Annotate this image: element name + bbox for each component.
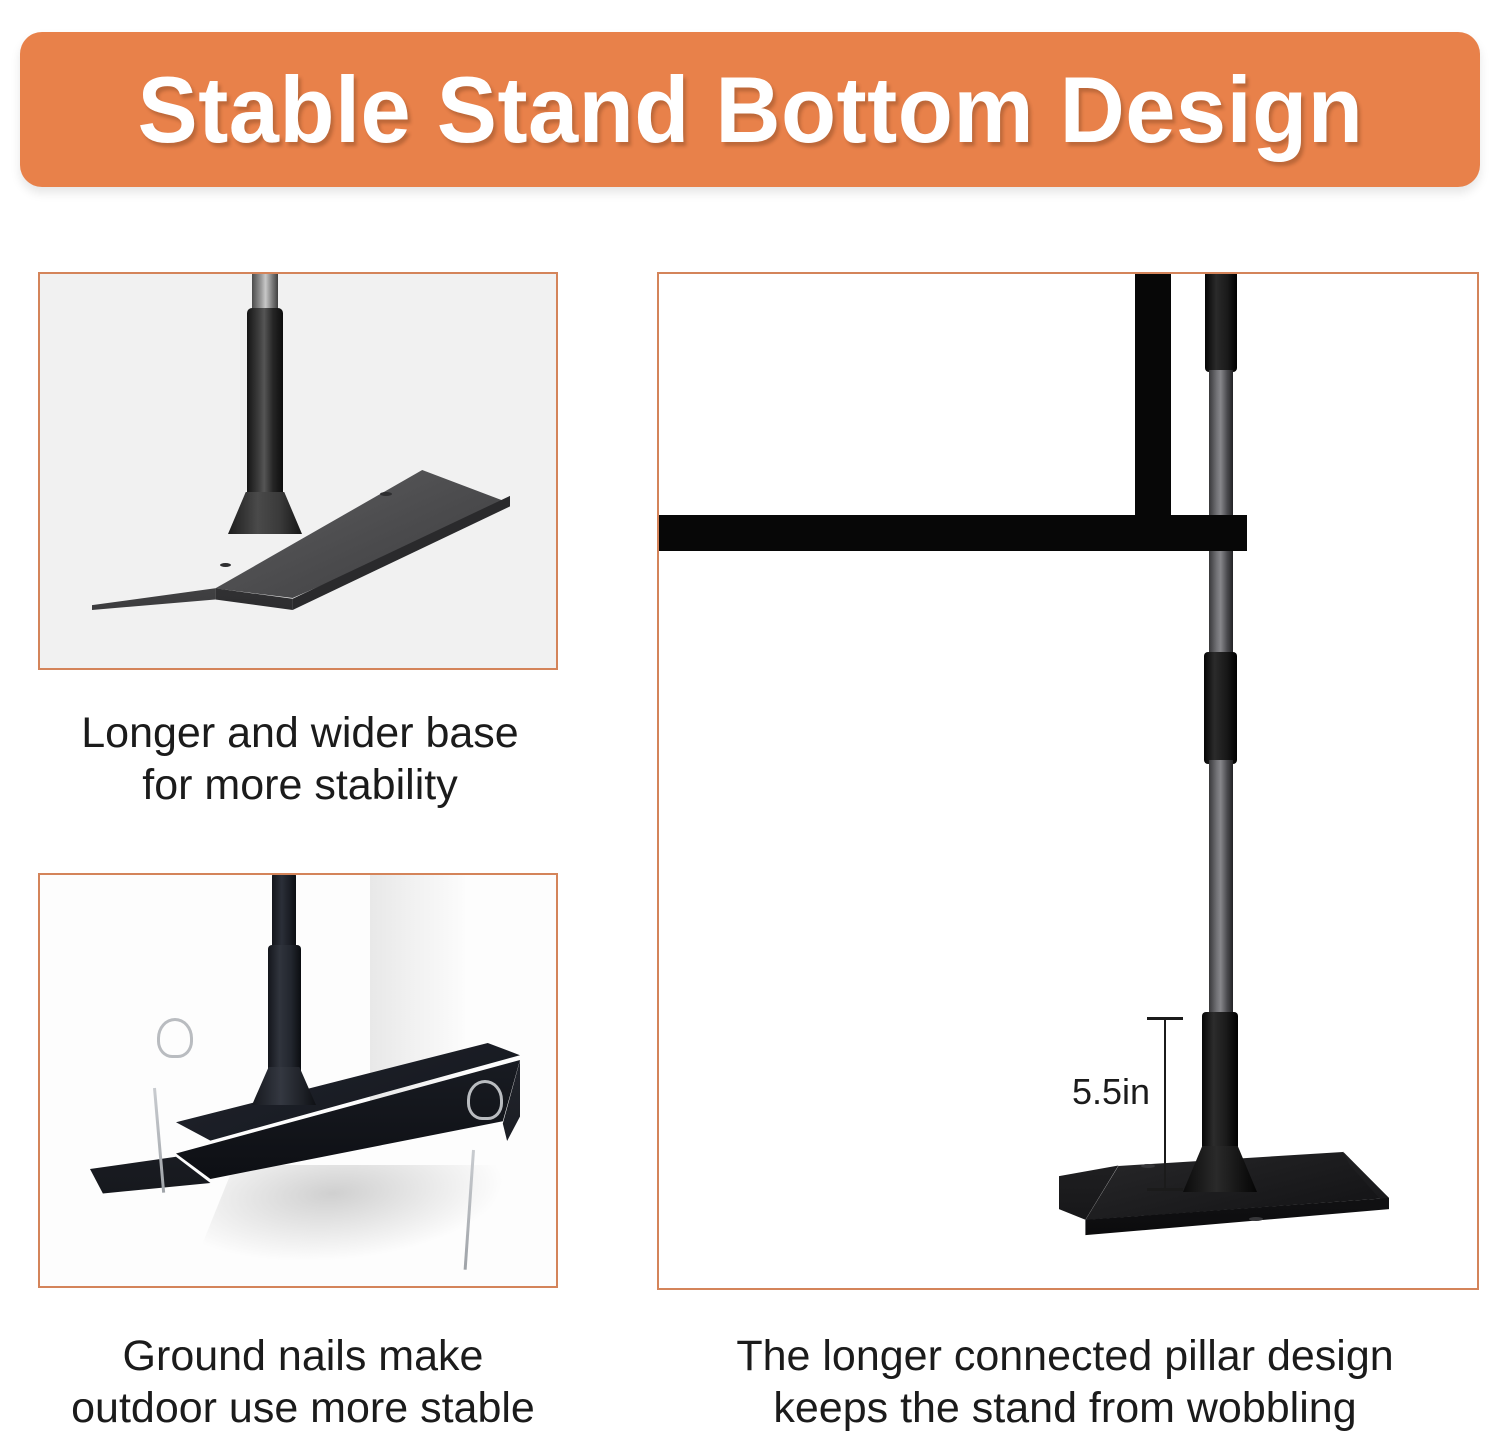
panel-ground-nails	[38, 873, 558, 1288]
caption-pillar-design: The longer connected pillar design keeps…	[645, 1330, 1485, 1435]
pole-upper-segment-icon	[272, 873, 296, 949]
base-plate-screw-icon	[1249, 1217, 1263, 1221]
pole-bottom-sleeve-icon	[1202, 1012, 1238, 1162]
dimension-label-height: 5.5in	[1072, 1071, 1150, 1113]
pole-top-sleeve-icon	[1205, 272, 1237, 372]
pole-black-sleeve-icon	[268, 945, 301, 1075]
pole-black-sleeve-icon	[247, 308, 283, 508]
page-title: Stable Stand Bottom Design	[137, 63, 1363, 157]
dimension-tick-icon	[1147, 1188, 1183, 1191]
pole-mid-sleeve-icon	[1204, 652, 1237, 764]
caption-line: for more stability	[30, 759, 570, 811]
caption-line: The longer connected pillar design	[645, 1330, 1485, 1382]
base-plate-illustration: 16.5in 5in	[40, 274, 556, 668]
base-plate-cone-joint	[228, 492, 302, 534]
frame-crossbar	[657, 515, 1247, 551]
panel-base-dimensions: 16.5in 5in	[38, 272, 558, 670]
ground-nails-illustration	[40, 875, 556, 1286]
panel-pillar-design: 5.5in	[657, 272, 1479, 1290]
ground-nail-ring-icon	[157, 1018, 193, 1058]
ground-nail-ring-icon	[467, 1080, 503, 1120]
base-plate-screw-icon	[1141, 1164, 1155, 1168]
pillar-design-illustration: 5.5in	[659, 274, 1477, 1288]
header-banner: Stable Stand Bottom Design	[20, 32, 1480, 187]
base-plate-screw-icon	[380, 492, 392, 496]
caption-line: Longer and wider base	[30, 707, 570, 759]
caption-line: outdoor use more stable	[18, 1382, 588, 1434]
caption-base-dimensions: Longer and wider base for more stability	[30, 707, 570, 812]
caption-line: keeps the stand from wobbling	[645, 1382, 1485, 1434]
floor-shadow	[196, 1165, 509, 1260]
pole-gray-segment-lower	[1209, 760, 1233, 1018]
base-plate-cone-joint	[1183, 1146, 1257, 1192]
dimension-tick-icon	[1147, 1017, 1183, 1020]
frame-vertical-bar	[1135, 272, 1171, 524]
caption-ground-nails: Ground nails make outdoor use more stabl…	[18, 1330, 588, 1435]
dimension-line-height	[1164, 1018, 1166, 1190]
caption-line: Ground nails make	[18, 1330, 588, 1382]
base-plate-cone-joint	[252, 1067, 316, 1105]
base-plate-screw-icon	[220, 563, 231, 567]
